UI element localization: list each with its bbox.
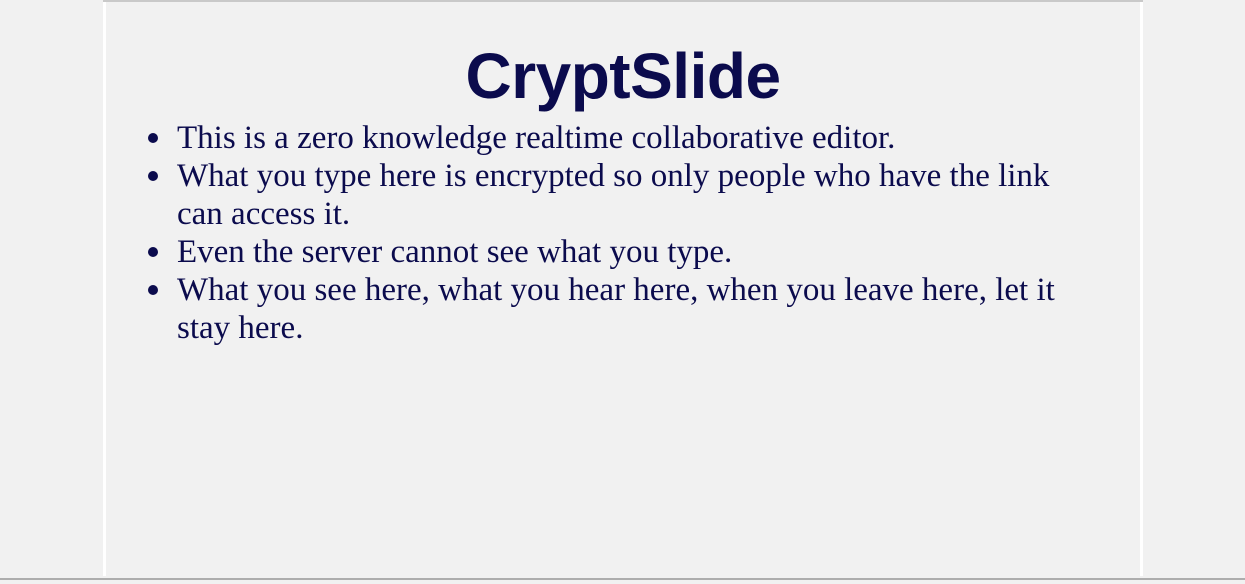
right-gutter (1143, 0, 1245, 578)
slide-canvas[interactable]: CryptSlide This is a zero knowledge real… (106, 2, 1140, 578)
bullet-item-text: This is a zero knowledge realtime collab… (177, 119, 1100, 157)
window-bottom-edge (0, 578, 1245, 580)
left-gutter (0, 0, 103, 578)
bullet-marker-icon (148, 171, 158, 181)
slide-right-rail (1140, 2, 1143, 576)
bullet-list: This is a zero knowledge realtime collab… (106, 119, 1140, 347)
bullet-item-text: Even the server cannot see what you type… (177, 233, 1100, 271)
bullet-item[interactable]: What you type here is encrypted so only … (106, 157, 1140, 233)
slide-title[interactable]: CryptSlide (106, 42, 1140, 111)
bullet-marker-icon (148, 285, 158, 295)
slide-viewport: CryptSlide This is a zero knowledge real… (0, 0, 1245, 584)
bullet-item[interactable]: This is a zero knowledge realtime collab… (106, 119, 1140, 157)
bullet-item[interactable]: Even the server cannot see what you type… (106, 233, 1140, 271)
bullet-item-text: What you type here is encrypted so only … (177, 157, 1100, 233)
bullet-item-text: What you see here, what you hear here, w… (177, 271, 1100, 347)
bullet-item[interactable]: What you see here, what you hear here, w… (106, 271, 1140, 347)
slide-body[interactable]: This is a zero knowledge realtime collab… (106, 119, 1140, 347)
bullet-marker-icon (148, 247, 158, 257)
bullet-marker-icon (148, 133, 158, 143)
